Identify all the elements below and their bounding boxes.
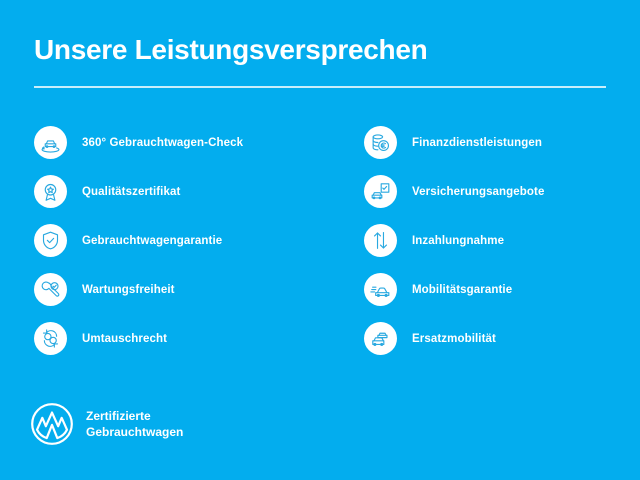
exchange-arrows-icon bbox=[34, 322, 67, 355]
car-speed-icon bbox=[364, 273, 397, 306]
shield-check-icon bbox=[34, 224, 67, 257]
benefit-item-gebrauchtwagen-check[interactable]: 360° Gebrauchtwagen-Check bbox=[34, 118, 364, 167]
up-down-arrows-icon bbox=[364, 224, 397, 257]
benefit-label: Versicherungsangebote bbox=[412, 186, 544, 198]
wrench-check-icon bbox=[34, 273, 67, 306]
car-360-check-icon bbox=[34, 126, 67, 159]
benefit-item-umtauschrecht[interactable]: Umtauschrecht bbox=[34, 314, 364, 363]
benefit-label: Inzahlungnahme bbox=[412, 235, 504, 247]
benefit-label: Ersatzmobilität bbox=[412, 333, 496, 345]
benefit-item-ersatzmobilitaet[interactable]: Ersatzmobilität bbox=[364, 314, 624, 363]
benefit-item-versicherungsangebote[interactable]: Versicherungsangebote bbox=[364, 167, 624, 216]
benefit-item-gebrauchtwagengarantie[interactable]: Gebrauchtwagengarantie bbox=[34, 216, 364, 265]
coins-euro-icon bbox=[364, 126, 397, 159]
benefits-column-left: 360° Gebrauchtwagen-Check Qualitätszerti… bbox=[34, 118, 364, 363]
benefit-item-wartungsfreiheit[interactable]: Wartungsfreiheit bbox=[34, 265, 364, 314]
page-title: Unsere Leistungsversprechen bbox=[34, 33, 427, 67]
benefit-item-finanzdienstleistungen[interactable]: Finanzdienstleistungen bbox=[364, 118, 624, 167]
benefit-label: 360° Gebrauchtwagen-Check bbox=[82, 137, 243, 149]
benefits-column-right: Finanzdienstleistungen Versicherungsange… bbox=[364, 118, 624, 363]
benefit-label: Finanzdienstleistungen bbox=[412, 137, 542, 149]
benefit-item-mobilitaetsgarantie[interactable]: Mobilitätsgarantie bbox=[364, 265, 624, 314]
brand-line-1: Zertifizierte bbox=[86, 408, 183, 424]
benefit-item-qualitaetszertifikat[interactable]: Qualitätszertifikat bbox=[34, 167, 364, 216]
promo-panel: Unsere Leistungsversprechen 360° Gebrauc… bbox=[0, 0, 640, 480]
benefit-label: Mobilitätsgarantie bbox=[412, 284, 512, 296]
volkswagen-logo bbox=[30, 402, 74, 446]
benefit-label: Gebrauchtwagengarantie bbox=[82, 235, 222, 247]
car-document-icon bbox=[364, 175, 397, 208]
brand-text: Zertifizierte Gebrauchtwagen bbox=[86, 408, 183, 440]
benefit-label: Umtauschrecht bbox=[82, 333, 167, 345]
brand-lockup: Zertifizierte Gebrauchtwagen bbox=[30, 402, 183, 446]
award-rosette-icon bbox=[34, 175, 67, 208]
benefit-item-inzahlungnahme[interactable]: Inzahlungnahme bbox=[364, 216, 624, 265]
benefits-list: 360° Gebrauchtwagen-Check Qualitätszerti… bbox=[0, 118, 640, 363]
two-cars-icon bbox=[364, 322, 397, 355]
benefit-label: Wartungsfreiheit bbox=[82, 284, 175, 296]
benefit-label: Qualitätszertifikat bbox=[82, 186, 180, 198]
title-divider bbox=[34, 86, 606, 88]
brand-line-2: Gebrauchtwagen bbox=[86, 424, 183, 440]
